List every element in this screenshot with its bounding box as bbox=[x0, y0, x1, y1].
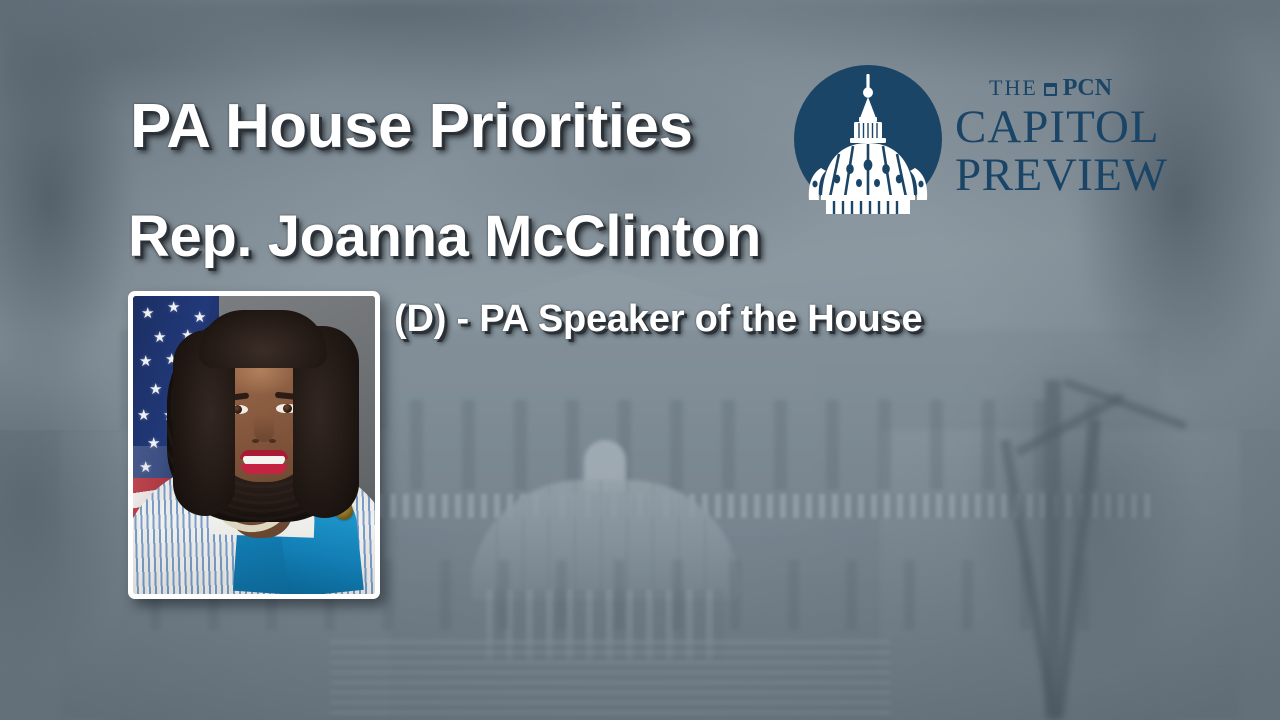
guest-title: (D) - PA Speaker of the House bbox=[394, 300, 922, 338]
logo-the-pcn-line: THE PCN bbox=[955, 76, 1173, 100]
logo-preview-line: PREVIEW bbox=[955, 152, 1173, 200]
guest-name: Rep. Joanna McClinton bbox=[128, 208, 761, 266]
logo-the-label: THE bbox=[989, 77, 1038, 99]
broadcast-lower-third-graphic: PA House Priorities Rep. Joanna McClinto… bbox=[0, 0, 1280, 720]
logo-capitol-line: CAPITOL bbox=[955, 104, 1173, 152]
portrait-photo-shading bbox=[133, 296, 375, 594]
guest-portrait-photo: ★ ★ ★ ★ ★ ★ ★ ★ ★ ★ ★ ★ ★ ★ ★ ★ bbox=[133, 296, 375, 594]
pcn-capitol-preview-logo: THE PCN CAPITOL PREVIEW bbox=[793, 62, 1173, 212]
logo-network-label: PCN bbox=[1063, 76, 1112, 100]
program-title: PA House Priorities bbox=[130, 96, 692, 158]
capitol-dome-icon bbox=[793, 64, 943, 214]
guest-portrait-frame: ★ ★ ★ ★ ★ ★ ★ ★ ★ ★ ★ ★ ★ ★ ★ ★ bbox=[128, 291, 380, 599]
pcn-box-icon bbox=[1044, 83, 1057, 96]
logo-wordmark: THE PCN CAPITOL PREVIEW bbox=[955, 76, 1173, 200]
